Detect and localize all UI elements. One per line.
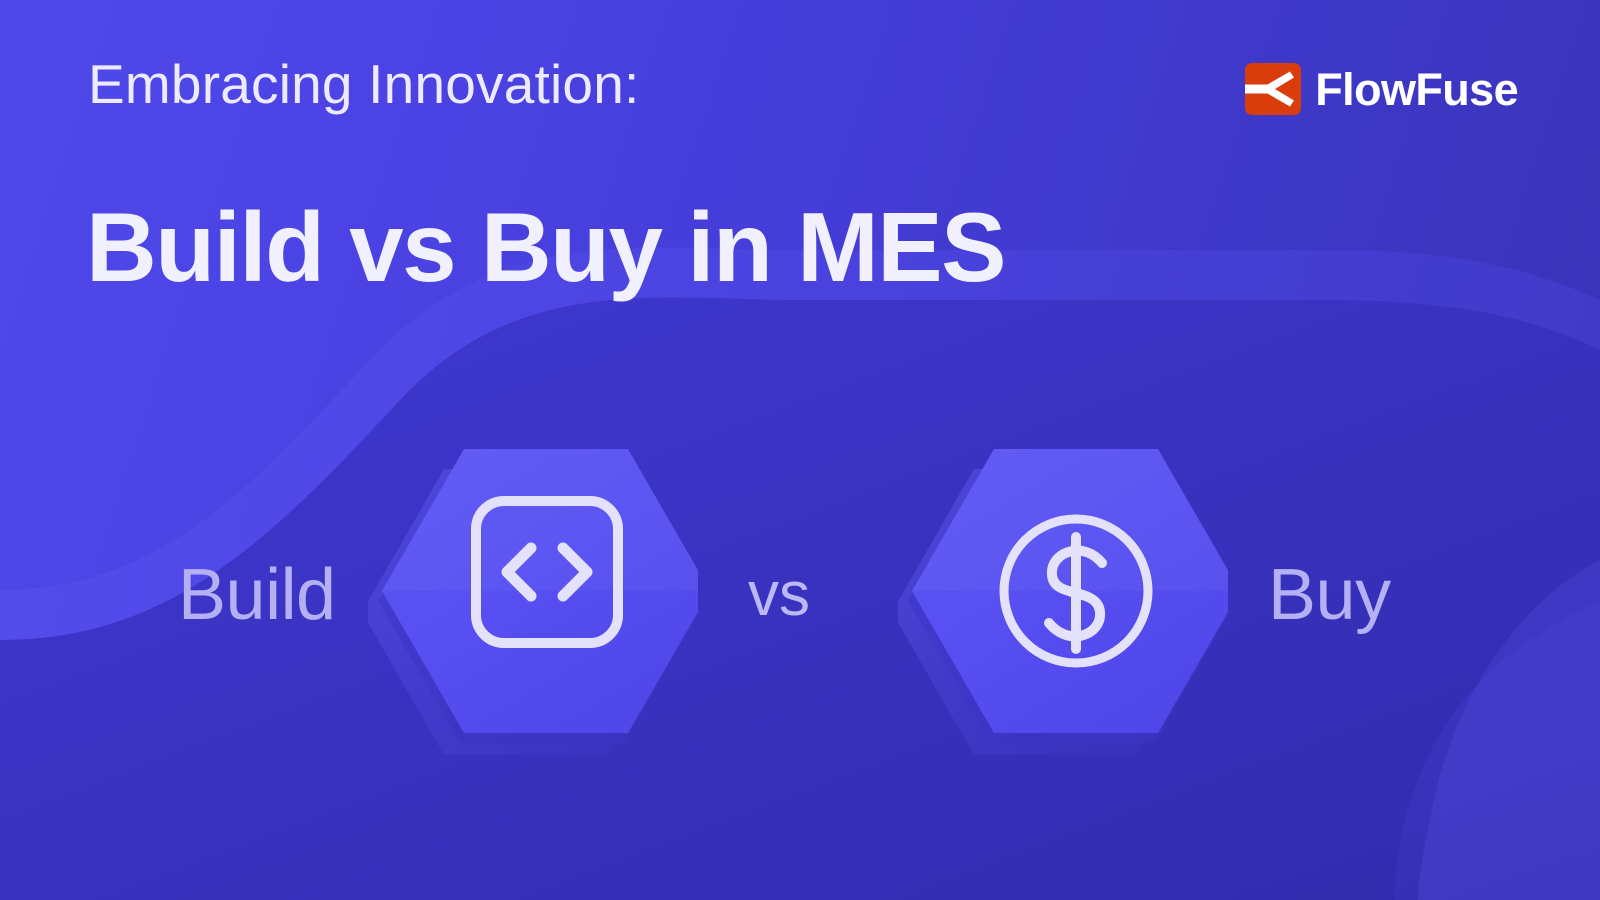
build-hexagon-tile[interactable] (368, 401, 698, 791)
comparison-row: Build vs (0, 395, 1600, 795)
flowfuse-logo-icon (1245, 63, 1301, 115)
header: Embracing Innovation: Build vs Buy in ME… (0, 0, 1600, 270)
page-title: Build vs Buy in MES (86, 196, 1005, 299)
brand-logo[interactable]: FlowFuse (1245, 63, 1518, 115)
versus-label: vs (748, 395, 810, 795)
hero-banner: Embracing Innovation: Build vs Buy in ME… (0, 0, 1600, 900)
brand-wordmark: FlowFuse (1315, 67, 1518, 112)
buy-hexagon-tile[interactable] (898, 401, 1228, 791)
eyebrow-text: Embracing Innovation: (88, 57, 639, 112)
build-label: Build (178, 395, 336, 795)
buy-label: Buy (1268, 395, 1391, 795)
